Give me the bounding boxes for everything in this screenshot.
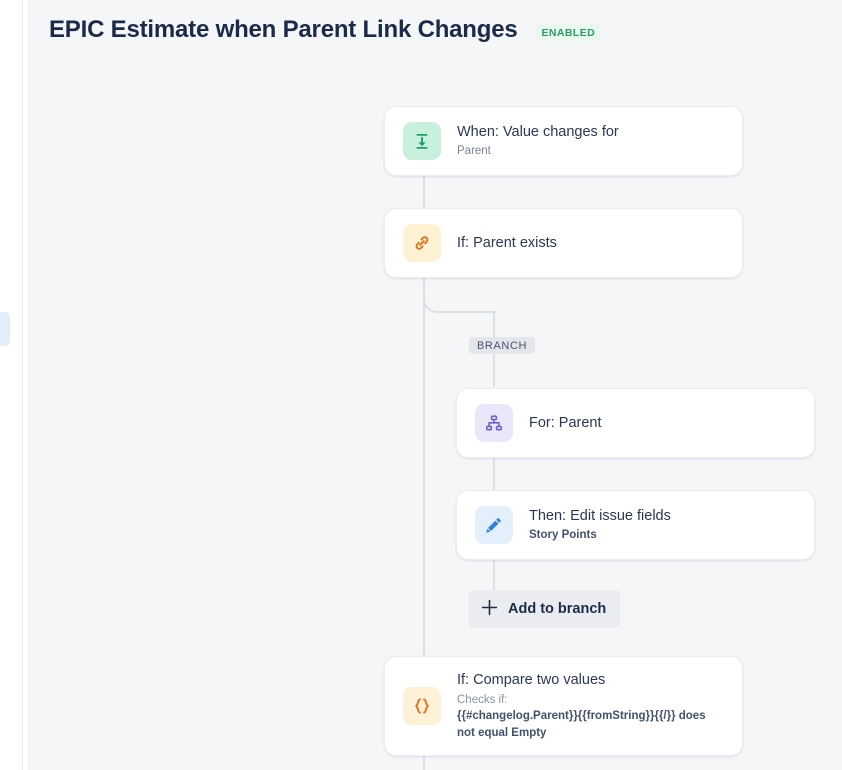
- rule-card-condition[interactable]: If: Parent exists: [384, 208, 743, 278]
- connector-for-action: [493, 458, 495, 490]
- page-title: EPIC Estimate when Parent Link Changes: [49, 16, 518, 44]
- rule-card-condition-text: If: Parent exists: [457, 234, 557, 252]
- rail-divider: [22, 0, 23, 770]
- connector-branch-elbow: [423, 283, 497, 313]
- rule-card-compare-expression: {{#changelog.Parent}}{{fromString}}{{/}}…: [457, 708, 719, 741]
- left-rail: [0, 0, 22, 770]
- rule-card-trigger[interactable]: When: Value changes for Parent: [384, 106, 743, 176]
- rail-divider-secondary: [28, 0, 29, 770]
- rule-card-branch-action-text: Then: Edit issue fields Story Points: [529, 507, 671, 543]
- rule-card-compare-text: If: Compare two values Checks if: {{#cha…: [457, 671, 719, 742]
- add-to-branch-label: Add to branch: [508, 601, 606, 617]
- status-badge: ENABLED: [536, 24, 602, 41]
- page-header: EPIC Estimate when Parent Link Changes E…: [49, 16, 601, 44]
- add-to-branch-button[interactable]: Add to branch: [469, 590, 620, 628]
- rule-card-branch-action[interactable]: Then: Edit issue fields Story Points: [456, 490, 815, 560]
- rule-card-trigger-subtitle: Parent: [457, 144, 619, 159]
- rule-card-trigger-text: When: Value changes for Parent: [457, 123, 619, 159]
- rule-card-branch-action-title: Then: Edit issue fields: [529, 507, 671, 525]
- rule-card-trigger-title: When: Value changes for: [457, 123, 619, 141]
- rule-card-branch-for[interactable]: For: Parent: [456, 388, 815, 458]
- rule-card-branch-for-title: For: Parent: [529, 414, 602, 432]
- link-icon: [403, 224, 441, 262]
- rule-card-condition-title: If: Parent exists: [457, 234, 557, 252]
- value-changes-icon: [403, 122, 441, 160]
- pencil-icon: [475, 506, 513, 544]
- rule-card-compare-title: If: Compare two values: [457, 671, 719, 689]
- rule-canvas: EPIC Estimate when Parent Link Changes E…: [29, 0, 842, 770]
- rule-card-branch-action-subtitle: Story Points: [529, 528, 671, 543]
- sidebar-expand-handle[interactable]: [0, 312, 10, 346]
- hierarchy-icon: [475, 404, 513, 442]
- rule-card-branch-for-text: For: Parent: [529, 414, 602, 432]
- branch-label: BRANCH: [469, 337, 535, 354]
- rule-card-compare-checks-label: Checks if:: [457, 693, 719, 709]
- connector-trigger-condition: [423, 176, 425, 208]
- rule-card-compare[interactable]: If: Compare two values Checks if: {{#cha…: [384, 656, 743, 756]
- smart-value-icon: [403, 687, 441, 725]
- connector-action-addbutton: [493, 560, 495, 590]
- plus-icon: [480, 598, 499, 620]
